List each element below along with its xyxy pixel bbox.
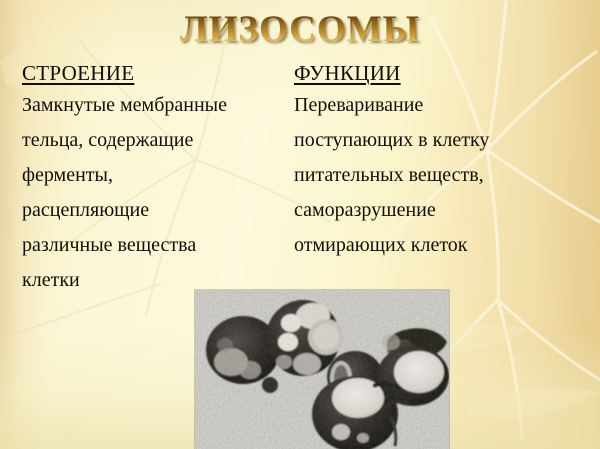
micrograph-canvas [195,290,449,449]
column-structure-heading: СТРОЕНИЕ [22,60,287,86]
text-line: тельца, содержащие [22,123,287,158]
text-line: питательных веществ, [294,158,554,193]
column-structure: СТРОЕНИЕ Замкнутые мембранные тельца, со… [22,60,287,298]
column-functions: ФУНКЦИИ Переваривание поступающих в клет… [294,60,554,263]
column-structure-body: Замкнутые мембранные тельца, содержащие … [22,88,287,298]
text-line: саморазрушение [294,193,554,228]
page-title: ЛИЗОСОМЫ [0,8,600,52]
text-line: Переваривание [294,88,554,123]
text-line: Замкнутые мембранные [22,88,287,123]
text-line: отмирающих клеток [294,228,554,263]
column-functions-body: Переваривание поступающих в клетку питат… [294,88,554,263]
electron-micrograph-lysosomes [195,290,449,449]
presentation-slide: ЛИЗОСОМЫ СТРОЕНИЕ Замкнутые мембранные т… [0,0,600,449]
text-line: ферменты, [22,158,287,193]
text-line: расцепляющие [22,193,287,228]
column-functions-heading: ФУНКЦИИ [294,60,554,86]
text-line: поступающих в клетку [294,123,554,158]
text-line: различные вещества [22,228,287,263]
